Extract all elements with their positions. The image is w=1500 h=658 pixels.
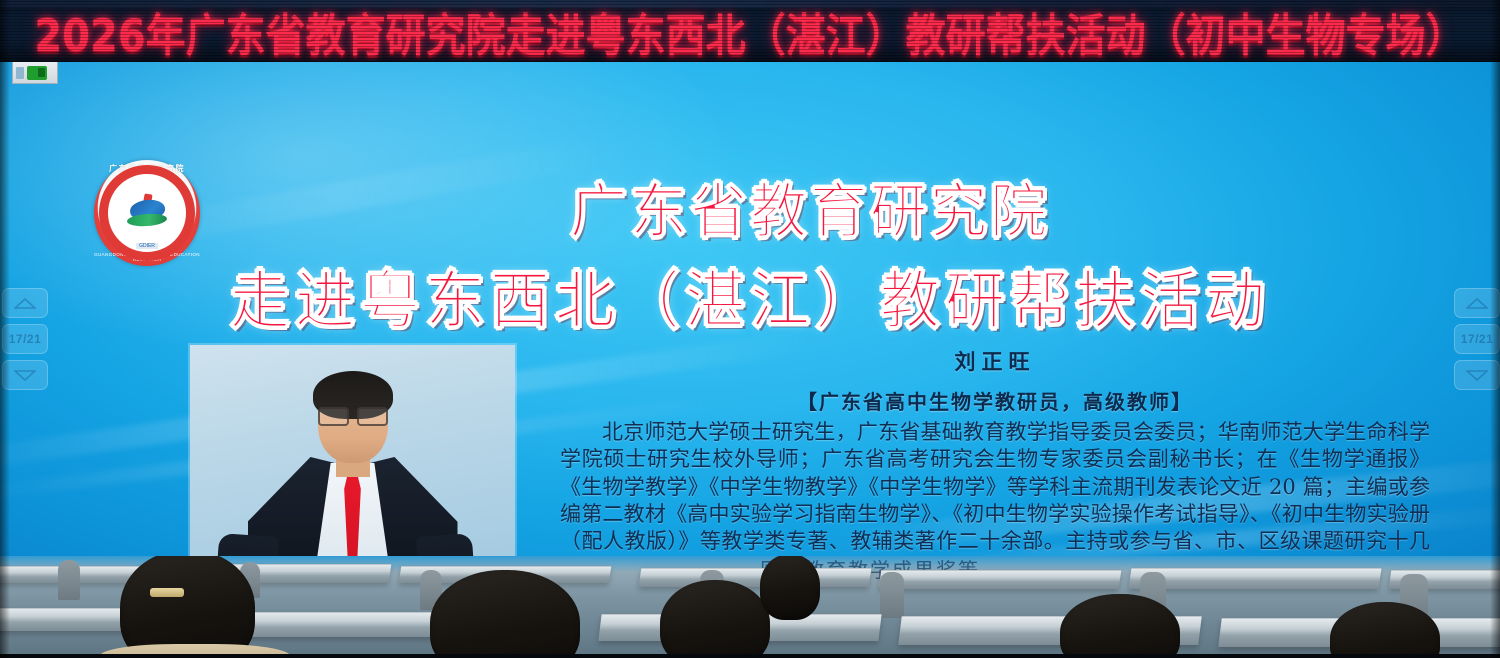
audience-head [760, 556, 820, 620]
chair-back [58, 560, 80, 600]
chevron-up-icon [1466, 298, 1488, 309]
chevron-up-icon [14, 298, 36, 309]
classroom-foreground: 区级教育教学成果奖等。 [0, 556, 1500, 658]
green-app-icon[interactable] [27, 66, 47, 80]
taskbar-fragment[interactable] [12, 62, 58, 84]
bottom-edge [0, 654, 1500, 658]
audience-head [120, 556, 255, 658]
presenter-role: 【广东省高中生物学教研员，高级教师】 [560, 386, 1430, 415]
screenshot-root: 2026年广东省教育研究院走进粤东西北（湛江）教研帮扶活动（初中生物专场） 广东… [0, 0, 1500, 658]
audience-head [430, 570, 580, 658]
desk [639, 568, 872, 587]
slide-title-block: 广东省教育研究院 走进粤东西北（湛江）教研帮扶活动 [0, 166, 1500, 339]
led-banner: 2026年广东省教育研究院走进粤东西北（湛江）教研帮扶活动（初中生物专场） [0, 0, 1500, 62]
glasses-icon [318, 407, 388, 423]
desk [879, 570, 1122, 589]
led-banner-text: 2026年广东省教育研究院走进粤东西北（湛江）教研帮扶活动（初中生物专场） [0, 1, 1500, 62]
chair-back [880, 572, 904, 618]
slide-title-line-2: 走进粤东西北（湛江）教研帮扶活动 [0, 250, 1500, 341]
presenter-portrait [190, 345, 515, 582]
chevron-down-icon [14, 370, 36, 381]
projection-screen: 广东省教育研究院 GUANGDONG INSTITUTE FOR EDUCATI… [0, 62, 1500, 582]
chevron-down-icon [1466, 370, 1488, 381]
presenter-name: 刘正旺 [560, 346, 1430, 376]
slide-title-line-1: 广东省教育研究院 [120, 164, 1500, 250]
left-vignette [0, 0, 10, 658]
window-icon[interactable] [16, 67, 24, 79]
presenter-bio: 刘正旺 【广东省高中生物学教研员，高级教师】 北京师范大学硕士研究生，广东省基础… [560, 346, 1430, 582]
right-vignette [1490, 0, 1500, 658]
hair-clip [150, 588, 184, 597]
desk [1129, 568, 1382, 589]
audience-head [1060, 594, 1180, 658]
audience-head [660, 580, 770, 658]
